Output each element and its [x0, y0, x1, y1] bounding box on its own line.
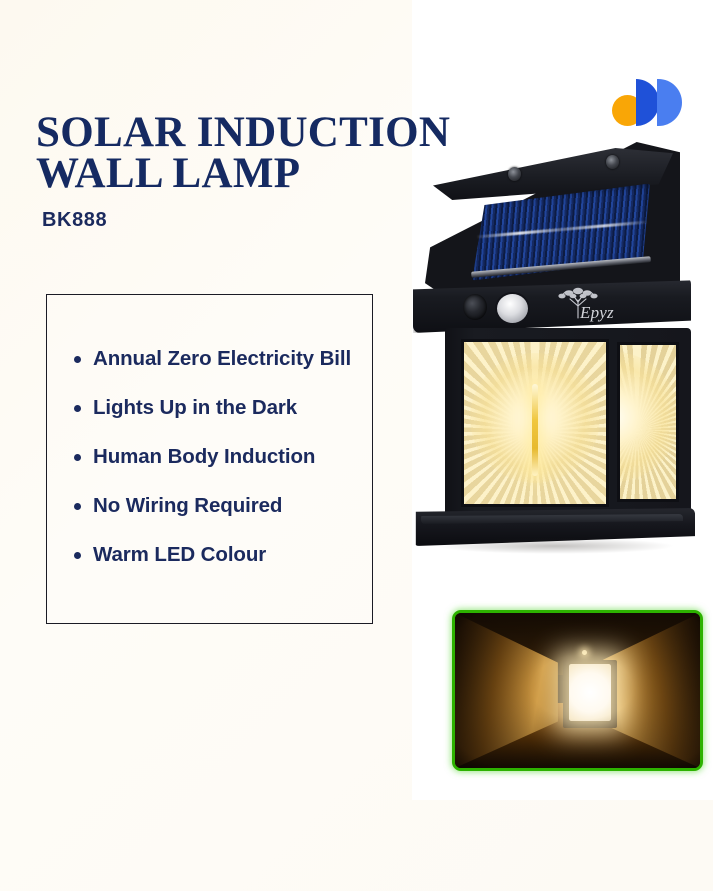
mounting-screw-icon: [606, 155, 619, 169]
light-sensor-icon: [463, 294, 487, 320]
bullet-icon: [74, 454, 81, 461]
feature-item: No Wiring Required: [61, 494, 372, 518]
feature-list-box: Annual Zero Electricity Bill Lights Up i…: [46, 294, 373, 624]
logo-leaf-dark-icon: [636, 79, 659, 126]
feature-label: Human Body Induction: [93, 445, 315, 468]
pir-motion-sensor-dome: [495, 292, 530, 325]
bullet-icon: [74, 356, 81, 363]
lit-corridor-photo: [452, 610, 703, 771]
lamp-shadow: [435, 538, 675, 554]
corridor-vignette: [455, 613, 700, 768]
feature-label: No Wiring Required: [93, 494, 282, 517]
feature-list: Annual Zero Electricity Bill Lights Up i…: [47, 295, 372, 567]
bullet-icon: [74, 552, 81, 559]
bullet-icon: [74, 405, 81, 412]
epyz-brand-mark: Epyz: [547, 284, 639, 328]
feature-label: Warm LED Colour: [93, 543, 266, 566]
brand-logo: [612, 78, 684, 126]
bullet-icon: [74, 503, 81, 510]
warm-led-glass-front: [461, 339, 609, 507]
feature-item: Lights Up in the Dark: [61, 396, 372, 420]
logo-leaf-light-icon: [657, 79, 682, 126]
model-number: BK888: [42, 209, 107, 232]
feature-item: Human Body Induction: [61, 445, 372, 469]
solar-wall-lamp-photo: Epyz: [405, 142, 700, 562]
feature-label: Annual Zero Electricity Bill: [93, 347, 351, 370]
mounting-screw-icon: [508, 167, 521, 181]
feature-label: Lights Up in the Dark: [93, 396, 297, 419]
epyz-brand-text: Epyz: [580, 303, 614, 323]
feature-item: Annual Zero Electricity Bill: [61, 347, 372, 371]
feature-item: Warm LED Colour: [61, 543, 372, 567]
led-filament: [532, 384, 538, 476]
warm-led-glass-side: [617, 342, 679, 502]
poster-canvas: SOLAR INDUCTION WALL LAMP BK888 Annual Z…: [0, 0, 713, 891]
